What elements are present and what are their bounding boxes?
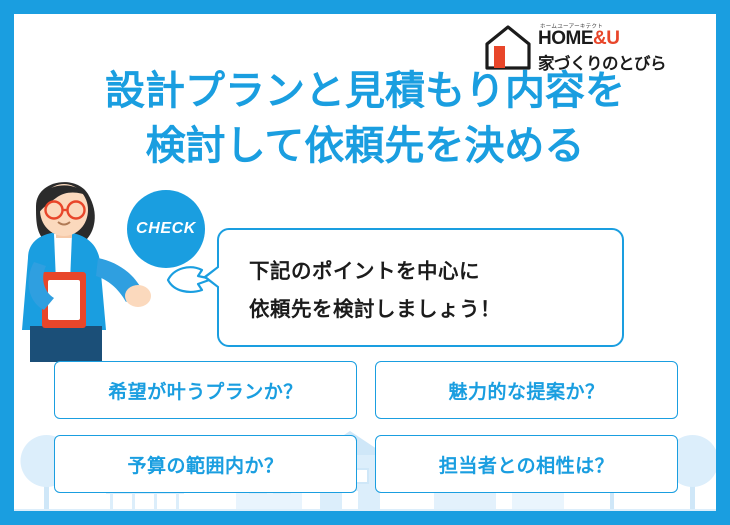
point-box-3-label: 予算の範囲内か？ [127,451,283,478]
brand-logo-text: ホームユーアーキテクト HOME&U 家づくりのとびら [538,22,702,70]
instruction-line-2: 依頼先を検討しましょう！ [249,291,501,329]
brand-logo-wordmark-accent: &U [593,28,619,49]
instruction-line-1: 下記のポイントを中心に [249,253,501,291]
point-box-1-label: 希望が叶うプランか？ [108,377,303,404]
bubble-tail-fill [207,266,221,288]
page-title-line-1: 設計プランと見積もり内容を [14,64,716,119]
point-box-2: 魅力的な提案か？ [375,361,678,419]
point-box-3: 予算の範囲内か？ [54,435,357,493]
slide-panel: ホームユーアーキテクト HOME&U 家づくりのとびら 設計プランと見積もり内容… [14,14,716,511]
brand-logo-wordmark-main: HOME [538,28,593,49]
point-box-2-label: 魅力的な提案か？ [448,377,604,404]
point-box-4: 担当者との相性は？ [375,435,678,493]
instruction-bubble-text: 下記のポイントを中心に 依頼先を検討しましょう！ [249,253,501,329]
check-badge-label: CHECK [136,220,196,238]
point-box-4-label: 担当者との相性は？ [439,451,614,478]
brand-logo-wordmark: HOME&U [538,28,619,50]
check-badge: CHECK [127,190,205,268]
page-title: 設計プランと見積もり内容を 検討して依頼先を決める [14,64,716,174]
instruction-bubble: 下記のポイントを中心に 依頼先を検討しましょう！ [217,228,624,347]
slide-canvas: ホームユーアーキテクト HOME&U 家づくりのとびら 設計プランと見積もり内容… [0,0,730,525]
woman-with-clipboard-illustration [14,162,154,362]
point-box-1: 希望が叶うプランか？ [54,361,357,419]
